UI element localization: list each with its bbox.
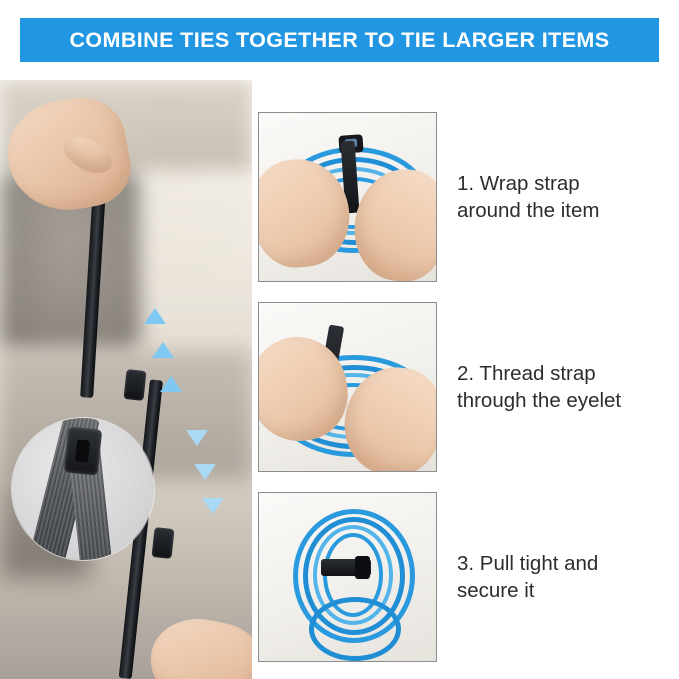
arrow-up-icon [152,342,174,358]
arrow-down-icon [194,464,216,480]
arrow-up-icon [144,308,166,324]
step-3-photo [258,492,437,662]
strap-buckle [355,556,370,579]
step-2-caption-line-1: 2. Thread strap [457,360,679,387]
step-2-caption-line-2: through the eyelet [457,387,679,414]
step-3-caption: 3. Pull tight and secure it [457,550,679,604]
strap-buckle-upper [123,369,146,401]
step-2-photo [258,302,437,472]
inset-buckle-eyelet [75,439,90,462]
step-1-caption-line-2: around the item [457,197,679,224]
strap-buckle-lower [151,527,174,559]
step-1-photo [258,112,437,282]
banner-title: COMBINE TIES TOGETHER TO TIE LARGER ITEM… [69,28,609,53]
hero-photo [0,80,252,679]
step-1: 1. Wrap strap around the item [258,112,679,282]
step-3-caption-line-1: 3. Pull tight and [457,550,679,577]
step-3-caption-line-2: secure it [457,577,679,604]
step-1-caption: 1. Wrap strap around the item [457,170,679,224]
arrow-down-icon [186,430,208,446]
content-area: 1. Wrap strap around the item 2. Thread … [0,80,679,679]
buckle-closeup-inset [12,418,154,560]
step-3: 3. Pull tight and secure it [258,492,679,662]
arrow-down-icon [202,498,224,514]
step-2: 2. Thread strap through the eyelet [258,302,679,472]
cable-coil-tail [309,597,401,661]
step-2-caption: 2. Thread strap through the eyelet [457,360,679,414]
header-banner: COMBINE TIES TOGETHER TO TIE LARGER ITEM… [20,18,659,62]
step-1-caption-line-1: 1. Wrap strap [457,170,679,197]
arrow-up-icon [160,376,182,392]
